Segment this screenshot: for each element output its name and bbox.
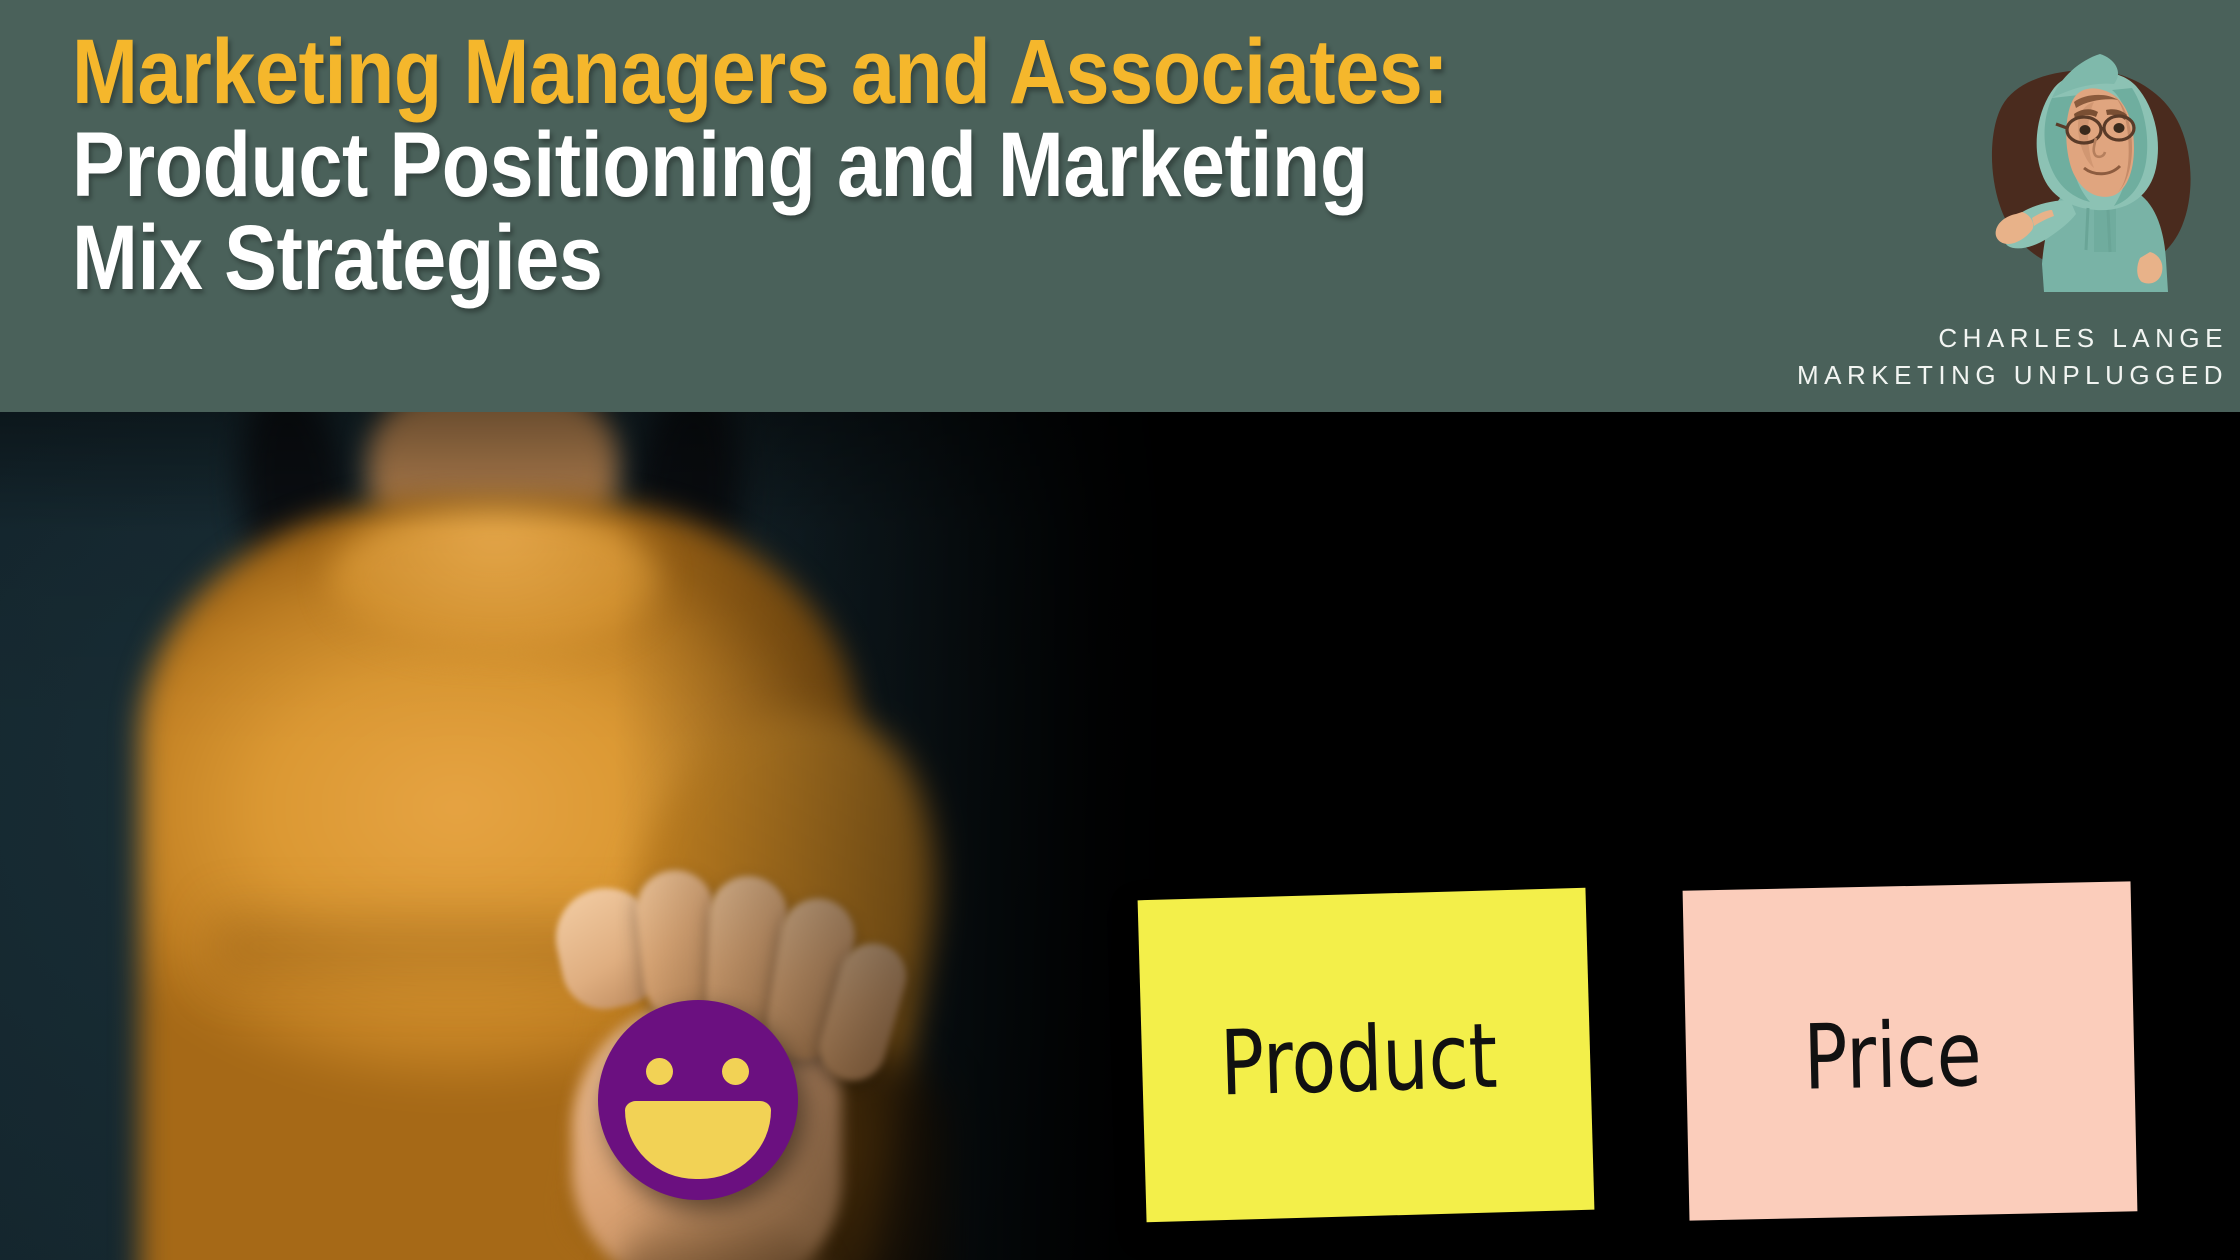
woman-holding-smiley-photo (0, 412, 1180, 1260)
stage: Product Price Place Promotion (0, 412, 2240, 1260)
brand-block: CHARLES LANGE MARKETING UNPLUGGED (1740, 0, 2240, 412)
slide-canvas: Marketing Managers and Associates: Produ… (0, 0, 2240, 1260)
byline: CHARLES LANGE MARKETING UNPLUGGED (1797, 320, 2228, 394)
purple-smiley-face-icon (598, 1000, 798, 1200)
smiley-eye-left (646, 1058, 673, 1085)
sticky-note-price[interactable]: Price (1683, 881, 2138, 1220)
turtleneck-collar (330, 504, 660, 654)
title-line-accent: Marketing Managers and Associates: (72, 26, 1680, 119)
title-line-main-1: Product Positioning and Marketing (72, 119, 1680, 212)
sticky-note-product[interactable]: Product (1138, 888, 1595, 1222)
show-name: MARKETING UNPLUGGED (1797, 357, 2228, 394)
header-bar: Marketing Managers and Associates: Produ… (0, 0, 2240, 412)
sticky-note-label: Price (1803, 1009, 1983, 1102)
title-line-main-2: Mix Strategies (72, 212, 1680, 305)
sticky-note-label: Product (1219, 1011, 1498, 1108)
smiley-mouth (625, 1101, 771, 1179)
author-name: CHARLES LANGE (1797, 320, 2228, 357)
avatar (1944, 2, 2234, 292)
page-title: Marketing Managers and Associates: Produ… (72, 26, 1942, 305)
smiley-eye-right (722, 1058, 749, 1085)
